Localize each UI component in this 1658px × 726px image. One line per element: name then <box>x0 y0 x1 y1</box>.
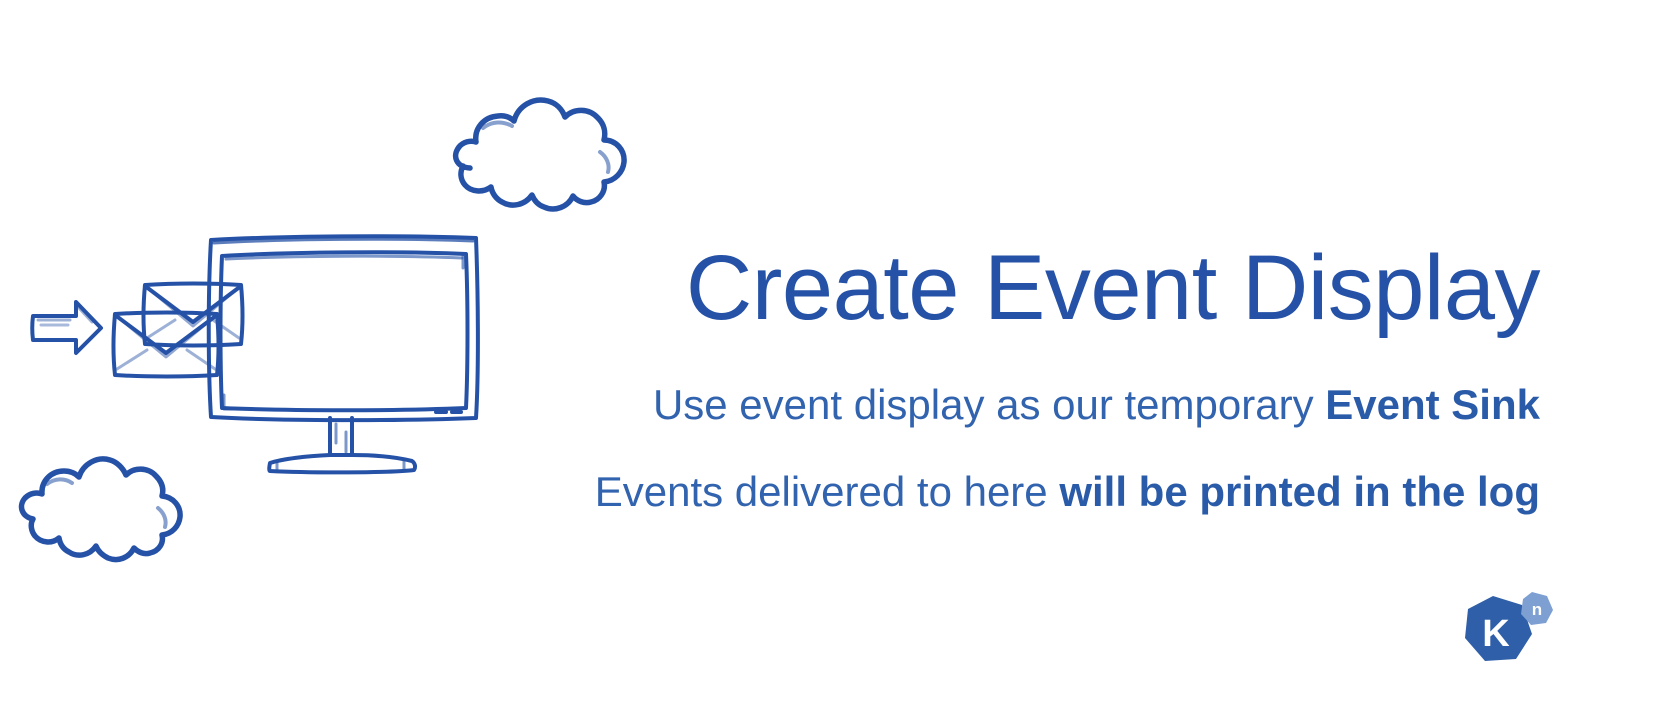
knative-logo-letter-n: n <box>1532 600 1542 619</box>
text-block: Create Event Display Use event display a… <box>520 240 1540 517</box>
subtitle-line-2: Events delivered to here will be printed… <box>520 467 1540 517</box>
monitor-sketch <box>209 236 478 472</box>
subtitle-line-1: Use event display as our temporary Event… <box>520 380 1540 430</box>
subtitle-1-emphasis: Event Sink <box>1325 381 1540 428</box>
arrow-sketch <box>32 302 101 353</box>
cloud-sketch-bottom <box>22 459 181 560</box>
page-title: Create Event Display <box>520 240 1540 338</box>
subtitle-1-plain: Use event display as our temporary <box>653 381 1325 428</box>
cloud-sketch-top <box>456 100 624 209</box>
subtitle-2-plain: Events delivered to here <box>595 468 1060 515</box>
slide-root: Create Event Display Use event display a… <box>0 0 1658 726</box>
knative-logo: K n <box>1452 588 1560 684</box>
knative-logo-primary-shape: K <box>1465 596 1532 661</box>
knative-logo-letter-k: K <box>1482 613 1510 655</box>
subtitle-2-emphasis: will be printed in the log <box>1059 468 1540 515</box>
